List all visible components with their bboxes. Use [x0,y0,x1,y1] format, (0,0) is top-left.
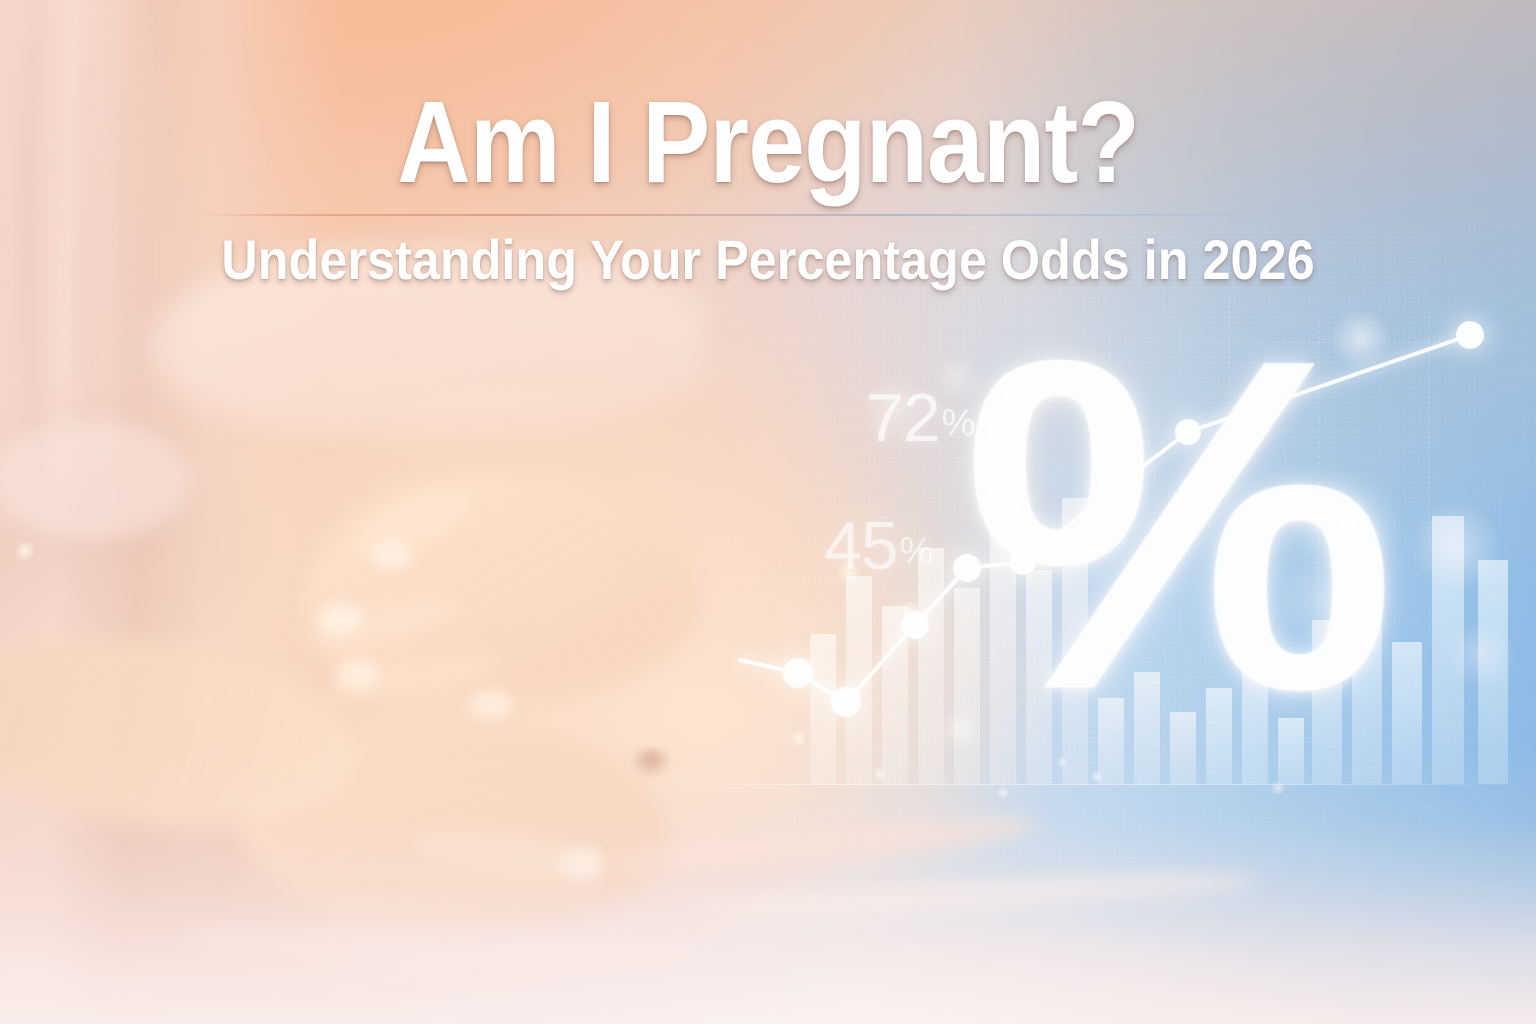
bokeh-sparkle [790,730,808,748]
bokeh-sparkle [900,600,920,620]
bokeh-circle [938,708,982,752]
bokeh-sparkle [1090,770,1104,784]
bokeh-sparkle [1270,780,1286,796]
hero-banner: % [0,0,1536,1024]
bokeh-sparkle [836,560,862,586]
bokeh-circle [1446,620,1516,690]
bokeh-layer [0,0,1536,1024]
bokeh-sparkle [1056,756,1068,768]
bokeh-circle [1288,470,1408,580]
bokeh-sparkle [872,766,888,782]
bokeh-circle [860,372,934,446]
bokeh-sparkle [14,540,36,562]
bokeh-circle [1410,500,1502,592]
bokeh-circle [932,352,982,402]
bokeh-sparkle [996,786,1010,800]
bokeh-circle [1330,308,1392,370]
bokeh-circle [1278,556,1364,642]
